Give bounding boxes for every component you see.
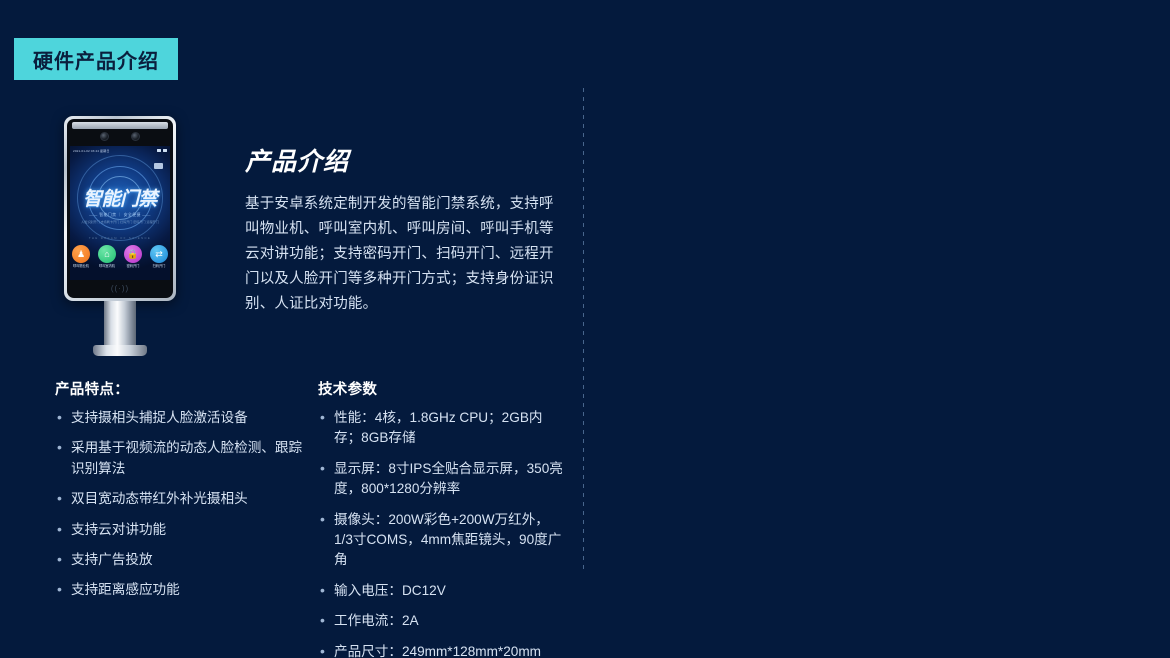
infrared-camera-icon: [131, 132, 140, 141]
features-heading: 产品特点：: [55, 378, 305, 399]
kiosk-button-label: 呼叫室内机: [96, 264, 118, 268]
kiosk-screen: 2021-01-02 03:44 星期日 智能门禁 —— 智能门禁 ｜ 安全便捷…: [70, 146, 170, 280]
kiosk-button-label: 呼叫物业机: [70, 264, 92, 268]
intro-heading: 产品介绍: [245, 142, 565, 178]
list-item: 支持距离感应功能: [55, 580, 305, 600]
product-intro-left: 产品介绍 基于安卓系统定制开发的智能门禁系统，支持呼叫物业机、呼叫室内机、呼叫房…: [245, 142, 565, 317]
kiosk-button-label: 扫码开门: [148, 264, 170, 268]
list-item: 支持广告投放: [55, 550, 305, 570]
list-item: 工作电流：2A: [318, 611, 563, 631]
kiosk-status-bar: 2021-01-02 03:44 星期日: [70, 146, 170, 154]
kiosk-button-label: 密码开门: [122, 264, 144, 268]
intro-paragraph: 基于安卓系统定制开发的智能门禁系统，支持呼叫物业机、呼叫室内机、呼叫房间、呼叫手…: [245, 192, 565, 317]
product-panel-left: 2021-01-02 03:44 星期日 智能门禁 —— 智能门禁 ｜ 安全便捷…: [0, 0, 583, 658]
specs-list: 性能：4核，1.8GHz CPU；2GB内存；8GB存储 显示屏：8寸IPS全贴…: [318, 408, 563, 658]
kiosk-front-face: 2021-01-02 03:44 星期日 智能门禁 —— 智能门禁 ｜ 安全便捷…: [67, 119, 173, 298]
features-list: 支持摄相头捕捉人脸激活设备 采用基于视频流的动态人脸检测、跟踪识别算法 双目宽动…: [55, 408, 305, 601]
kiosk-button-call-indoor[interactable]: ⌂ 呼叫室内机: [96, 245, 118, 268]
kiosk-screen-body: 人脸识别开门 支持刷卡开门 扫码开门 密码开门 远程开门: [70, 220, 170, 225]
kiosk-screen-subtitle: —— 智能门禁 ｜ 安全便捷 ——: [70, 212, 170, 218]
kiosk-camera-group: [67, 132, 173, 144]
scan-icon: ⇄: [150, 245, 168, 263]
kiosk-light-bar: [72, 122, 168, 129]
specs-heading: 技术参数: [318, 378, 563, 399]
list-item: 支持云对讲功能: [55, 520, 305, 540]
person-icon: ♟: [72, 245, 90, 263]
list-item: 支持摄相头捕捉人脸激活设备: [55, 408, 305, 428]
list-item: 摄像头：200W彩色+200W万红外，1/3寸COMS，4mm焦距镜头，90度广…: [318, 510, 563, 571]
specs-column-left: 技术参数 性能：4核，1.8GHz CPU；2GB内存；8GB存储 显示屏：8寸…: [318, 378, 563, 658]
kiosk-stand-pole: [104, 301, 136, 349]
kiosk-screen-footer: THE DREAM OF SCIENCE: [70, 236, 170, 240]
features-column-left: 产品特点： 支持摄相头捕捉人脸激活设备 采用基于视频流的动态人脸检测、跟踪识别算…: [55, 378, 305, 611]
kiosk-button-call-property[interactable]: ♟ 呼叫物业机: [70, 245, 92, 268]
list-item: 显示屏：8寸IPS全贴合显示屏，350亮度，800*1280分辨率: [318, 459, 563, 500]
list-item: 双目宽动态带红外补光摄相头: [55, 489, 305, 509]
kiosk-screen-title: 智能门禁: [70, 184, 170, 211]
list-item: 产品尺寸：249mm*128mm*20mm: [318, 642, 563, 658]
kiosk-button-password-open[interactable]: 🔒 密码开门: [122, 245, 144, 268]
product-image-kiosk: 2021-01-02 03:44 星期日 智能门禁 —— 智能门禁 ｜ 安全便捷…: [64, 116, 176, 356]
product-panel-right: 人脸测温门禁系统 设备号：0000000000007 温度值：--.- 识别状态…: [583, 0, 1170, 658]
list-item: 采用基于视频流的动态人脸检测、跟踪识别算法: [55, 438, 305, 479]
lock-icon: 🔒: [124, 245, 142, 263]
kiosk-bezel: 2021-01-02 03:44 星期日 智能门禁 —— 智能门禁 ｜ 安全便捷…: [64, 116, 176, 301]
kiosk-stand-base: [93, 345, 147, 356]
kiosk-action-buttons: ♟ 呼叫物业机 ⌂ 呼叫室内机 🔒 密码开门: [70, 245, 170, 268]
list-item: 性能：4核，1.8GHz CPU；2GB内存；8GB存储: [318, 408, 563, 449]
house-icon: ⌂: [98, 245, 116, 263]
slide-root: 硬件产品介绍 2021-01-02 03:44 星期日: [0, 0, 1170, 658]
kiosk-button-scan-open[interactable]: ⇄ 扫码开门: [148, 245, 170, 268]
list-item: 输入电压：DC12V: [318, 581, 563, 601]
screen-badge-icon: [154, 163, 163, 169]
status-icons: [157, 149, 167, 152]
status-datetime: 2021-01-02 03:44 星期日: [73, 148, 110, 153]
camera-lens-icon: [100, 132, 109, 141]
nfc-card-reader-icon: ((·)): [67, 281, 173, 295]
